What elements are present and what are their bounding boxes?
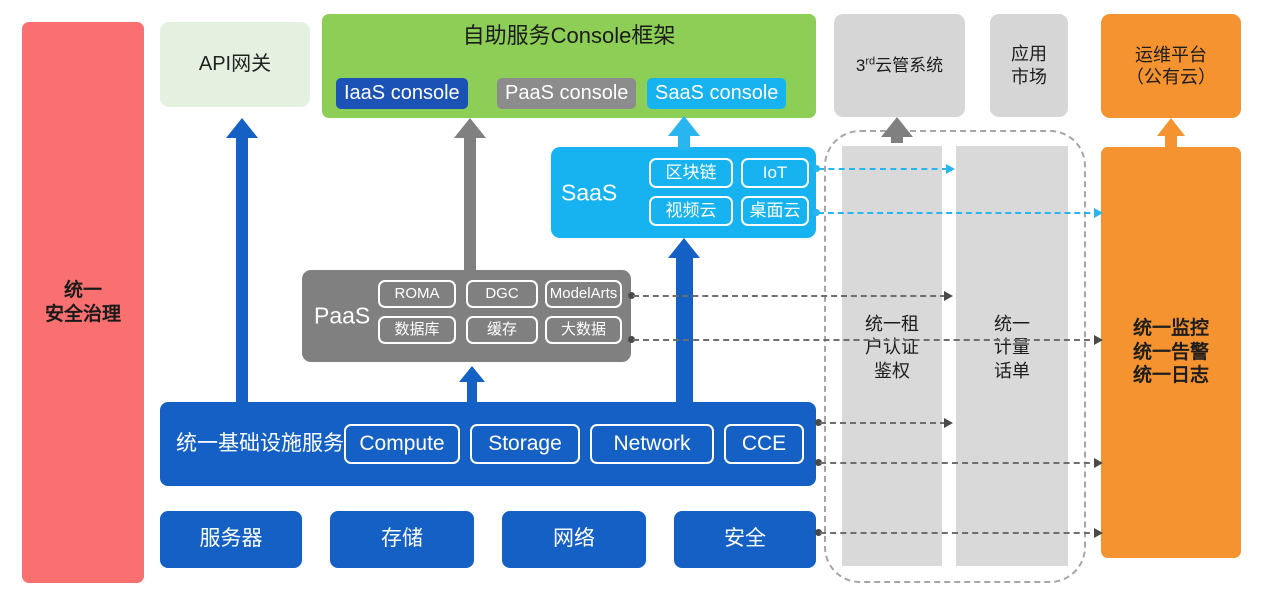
infra-item-network: Network (590, 424, 714, 464)
governance-line-1: 统一 (45, 279, 121, 303)
resource-box-storage: 存储 (330, 511, 474, 568)
third-party-label: 3rd云管系统 (856, 55, 943, 76)
saas-item-video-cloud: 视频云 (649, 196, 733, 226)
connector-resources-to-ops (820, 532, 1100, 534)
saas-item-blockchain: 区块链 (649, 158, 733, 188)
governance-line-2: 安全治理 (45, 303, 121, 327)
infra-item-storage: Storage (470, 424, 580, 464)
iaas-console-chip: IaaS console (336, 78, 468, 109)
ops-platform-line-2: （公有云） (1126, 66, 1216, 89)
ops-platform-line-1: 运维平台 (1126, 44, 1216, 67)
resource-box-security: 安全 (674, 511, 816, 568)
resource-box-network: 网络 (502, 511, 646, 568)
connector-infra-to-ops (820, 462, 1100, 464)
auth-line-3: 鉴权 (865, 360, 919, 383)
arrow-infra-to-saas (668, 238, 702, 404)
ops-tall-line-3: 统一日志 (1133, 364, 1209, 388)
third-party-prefix: 3 (856, 56, 865, 75)
api-gateway-label: API网关 (199, 52, 271, 77)
third-party-suffix: 云管系统 (875, 56, 943, 75)
connector-arrowhead-resources-ops (1094, 528, 1103, 538)
connector-arrowhead-paas-ops (1094, 335, 1103, 345)
connector-arrowhead-infra-ops (1094, 458, 1103, 468)
connector-arrowhead-paas-auth (944, 291, 953, 301)
auth-line-1: 统一租 (865, 313, 919, 336)
paas-item-dgc: DGC (466, 280, 538, 308)
metering-line-3: 话单 (994, 360, 1030, 383)
app-market-line-2: 市场 (1011, 66, 1047, 89)
infra-item-compute: Compute (344, 424, 460, 464)
arrow-infra-to-api-gateway (226, 118, 258, 404)
connector-saas-to-auth (818, 168, 948, 170)
arrow-infra-to-paas (459, 366, 485, 404)
paas-console-chip: PaaS console (497, 78, 636, 109)
metering-line-1: 统一 (994, 313, 1030, 336)
paas-item-cache: 缓存 (466, 316, 538, 344)
paas-item-modelarts: ModelArts (545, 280, 622, 308)
arrow-saas-to-saas-console (668, 116, 700, 150)
unified-tenant-auth-column: 统一租 户认证 鉴权 (842, 146, 942, 566)
third-party-cloud-management-box: 3rd云管系统 (834, 14, 965, 117)
self-service-console-framework: 自助服务Console框架 IaaS console PaaS console … (322, 14, 816, 118)
connector-arrowhead-infra-auth (944, 418, 953, 428)
paas-layer-label: PaaS (314, 302, 370, 331)
connector-paas-to-auth (633, 295, 946, 297)
connector-paas-to-ops (633, 339, 1100, 341)
app-market-box: 应用 市场 (990, 14, 1068, 117)
unified-monitoring-panel: 统一监控 统一告警 统一日志 (1101, 147, 1241, 558)
connector-infra-to-auth (820, 422, 946, 424)
resource-box-server: 服务器 (160, 511, 302, 568)
connector-arrowhead-saas-auth (946, 164, 955, 174)
architecture-diagram: 统一 安全治理 API网关 自助服务Console框架 IaaS console… (0, 0, 1265, 605)
saas-layer-block: SaaS 区块链 IoT 视频云 桌面云 (551, 147, 816, 238)
unified-infrastructure-service-bar: 统一基础设施服务 Compute Storage Network CCE (160, 402, 816, 486)
app-market-line-1: 应用 (1011, 43, 1047, 66)
saas-item-desktop-cloud: 桌面云 (741, 196, 809, 226)
saas-item-iot: IoT (741, 158, 809, 188)
arrow-paas-to-console (454, 118, 486, 272)
paas-layer-block: PaaS ROMA DGC ModelArts 数据库 缓存 大数据 (302, 270, 631, 362)
paas-item-bigdata: 大数据 (545, 316, 622, 344)
saas-console-chip: SaaS console (647, 78, 786, 109)
console-framework-title: 自助服务Console框架 (322, 22, 816, 50)
ops-tall-line-1: 统一监控 (1133, 317, 1209, 341)
connector-arrowhead-saas-ops (1094, 208, 1103, 218)
paas-item-roma: ROMA (378, 280, 456, 308)
infra-item-cce: CCE (724, 424, 804, 464)
unified-metering-column: 统一 计量 话单 (956, 146, 1068, 566)
paas-item-database: 数据库 (378, 316, 456, 344)
saas-layer-label: SaaS (561, 178, 617, 207)
third-party-superscript: rd (865, 55, 875, 67)
api-gateway-box: API网关 (160, 22, 310, 107)
ops-tall-line-2: 统一告警 (1133, 341, 1209, 365)
unified-security-governance-panel: 统一 安全治理 (22, 22, 144, 583)
arrow-to-ops-platform (1157, 118, 1185, 148)
infra-label: 统一基础设施服务 (176, 431, 344, 457)
connector-saas-to-ops (818, 212, 1100, 214)
ops-platform-public-cloud-box: 运维平台 （公有云） (1101, 14, 1241, 118)
arrow-to-third-party-cloud-mgmt (881, 117, 913, 143)
